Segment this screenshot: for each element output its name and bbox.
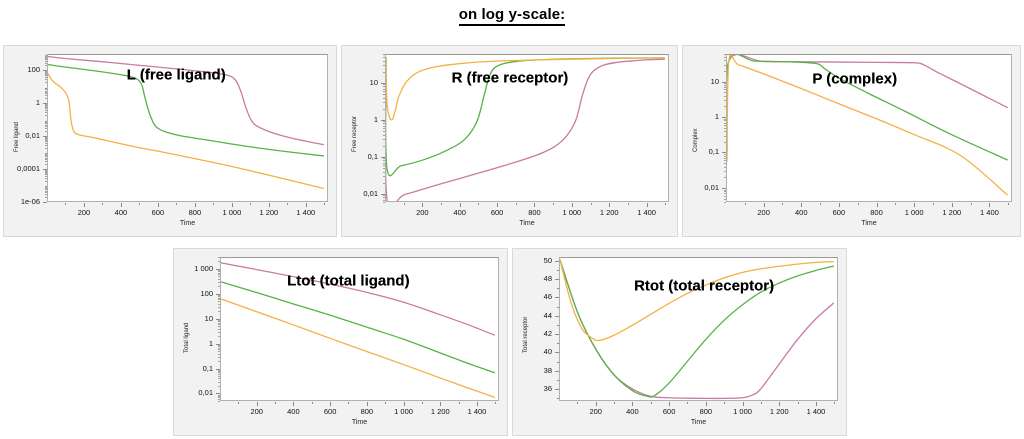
y-minor-tick-mark — [724, 119, 726, 120]
x-minor-tick-mark — [834, 402, 835, 404]
y-minor-tick-mark — [383, 139, 385, 140]
y-minor-tick-mark — [724, 92, 726, 93]
y-minor-tick-mark — [383, 163, 385, 164]
y-minor-tick-mark — [383, 109, 385, 110]
x-tick-mark — [989, 203, 990, 207]
series-line-green — [221, 282, 494, 373]
y-minor-tick-mark — [218, 274, 220, 275]
y-minor-tick-mark — [45, 104, 47, 105]
x-tick-mark — [497, 203, 498, 207]
y-minor-tick-mark — [383, 54, 385, 55]
x-tick-mark — [367, 402, 368, 406]
x-minor-tick-mark — [614, 402, 615, 404]
x-tick-mark — [440, 402, 441, 406]
x-minor-tick-mark — [971, 203, 972, 205]
x-tick-mark — [257, 402, 258, 406]
y-tick-label: 0,01 — [342, 189, 378, 198]
y-tick-label: 100 — [4, 65, 40, 74]
y-minor-tick-mark — [45, 75, 47, 76]
y-minor-tick-mark — [45, 173, 47, 174]
x-axis-title: Time — [47, 220, 328, 227]
y-minor-tick-mark — [45, 107, 47, 108]
x-minor-tick-mark — [798, 402, 799, 404]
y-minor-tick-mark — [218, 304, 220, 305]
y-minor-tick-mark — [724, 136, 726, 137]
y-tick-label: 0,1 — [342, 152, 378, 161]
y-minor-tick-mark — [218, 399, 220, 400]
y-minor-tick-mark — [218, 329, 220, 330]
series-line-pink — [727, 55, 1007, 152]
y-minor-tick-mark — [557, 398, 559, 399]
y-minor-tick-mark — [45, 57, 47, 58]
x-minor-tick-mark — [348, 402, 349, 404]
y-minor-tick-mark — [724, 191, 726, 192]
y-minor-tick-mark — [557, 380, 559, 381]
y-minor-tick-mark — [45, 128, 47, 129]
y-tick-label: 1 — [683, 112, 719, 121]
y-minor-tick-mark — [218, 276, 220, 277]
y-minor-tick-mark — [45, 140, 47, 141]
y-minor-tick-mark — [383, 200, 385, 201]
x-tick-mark — [477, 402, 478, 406]
y-minor-tick-mark — [45, 148, 47, 149]
y-minor-tick-mark — [724, 160, 726, 161]
y-minor-tick-mark — [218, 307, 220, 308]
x-tick-mark — [422, 203, 423, 207]
y-minor-tick-mark — [218, 321, 220, 322]
y-tick-label: 1 — [342, 115, 378, 124]
y-tick-label: 0,01 — [4, 131, 40, 140]
x-minor-tick-mark — [858, 203, 859, 205]
chart-title-Ltot: Ltot (total ligand) — [287, 273, 409, 290]
y-minor-tick-mark — [383, 168, 385, 169]
y-axis-title: Free receptor — [352, 116, 358, 152]
x-tick-label: 1 400 — [455, 407, 499, 416]
y-tick-mark — [555, 297, 559, 298]
y-minor-tick-mark — [724, 177, 726, 178]
y-minor-tick-mark — [45, 63, 47, 64]
y-tick-label: 0,1 — [174, 364, 213, 373]
y-minor-tick-mark — [45, 110, 47, 111]
y-minor-tick-mark — [724, 131, 726, 132]
y-minor-tick-mark — [45, 115, 47, 116]
x-minor-tick-mark — [724, 402, 725, 404]
y-tick-label: 0,01 — [683, 183, 719, 192]
y-minor-tick-mark — [218, 286, 220, 287]
y-minor-tick-mark — [45, 122, 47, 123]
y-minor-tick-mark — [45, 141, 47, 142]
y-minor-tick-mark — [383, 128, 385, 129]
x-minor-tick-mark — [820, 203, 821, 205]
y-minor-tick-mark — [724, 163, 726, 164]
y-minor-tick-mark — [45, 125, 47, 126]
x-minor-tick-mark — [404, 203, 405, 205]
x-minor-tick-mark — [312, 402, 313, 404]
x-minor-tick-mark — [687, 402, 688, 404]
x-minor-tick-mark — [591, 203, 592, 205]
y-minor-tick-mark — [218, 371, 220, 372]
y-minor-tick-mark — [218, 279, 220, 280]
x-minor-tick-mark — [65, 203, 66, 205]
x-tick-label: 1 400 — [967, 208, 1011, 217]
y-minor-tick-mark — [724, 193, 726, 194]
y-minor-tick-mark — [383, 146, 385, 147]
chart-title-P: P (complex) — [812, 71, 897, 88]
y-minor-tick-mark — [218, 326, 220, 327]
y-minor-tick-mark — [383, 172, 385, 173]
y-minor-tick-mark — [383, 65, 385, 66]
y-minor-tick-mark — [218, 324, 220, 325]
x-tick-mark — [816, 402, 817, 406]
y-minor-tick-mark — [724, 167, 726, 168]
y-minor-tick-mark — [383, 158, 385, 159]
y-minor-tick-mark — [45, 59, 47, 60]
y-minor-tick-mark — [218, 301, 220, 302]
y-minor-tick-mark — [383, 86, 385, 87]
y-minor-tick-mark — [45, 158, 47, 159]
x-tick-mark — [609, 203, 610, 207]
y-minor-tick-mark — [557, 288, 559, 289]
y-minor-tick-mark — [218, 296, 220, 297]
x-tick-mark — [877, 203, 878, 207]
x-minor-tick-mark — [250, 203, 251, 205]
y-minor-tick-mark — [218, 401, 220, 402]
y-minor-tick-mark — [383, 72, 385, 73]
y-minor-tick-mark — [724, 190, 726, 191]
y-minor-tick-mark — [724, 87, 726, 88]
y-minor-tick-mark — [383, 202, 385, 203]
y-minor-tick-mark — [45, 89, 47, 90]
x-tick-label: 1 400 — [794, 407, 838, 416]
x-minor-tick-mark — [761, 402, 762, 404]
y-minor-tick-mark — [218, 382, 220, 383]
y-tick-label: 10 — [174, 314, 213, 323]
y-minor-tick-mark — [45, 156, 47, 157]
y-minor-tick-mark — [724, 100, 726, 101]
page-title: on log y-scale: — [0, 6, 1024, 23]
y-minor-tick-mark — [724, 142, 726, 143]
x-tick-mark — [572, 203, 573, 207]
y-minor-tick-mark — [218, 378, 220, 379]
y-minor-tick-mark — [218, 361, 220, 362]
x-tick-mark — [330, 402, 331, 406]
y-minor-tick-mark — [45, 181, 47, 182]
y-minor-tick-mark — [218, 257, 220, 258]
y-minor-tick-mark — [724, 60, 726, 61]
y-minor-tick-mark — [218, 354, 220, 355]
y-minor-tick-mark — [383, 131, 385, 132]
x-tick-mark — [460, 203, 461, 207]
y-tick-label: 0,1 — [683, 147, 719, 156]
y-minor-tick-mark — [45, 197, 47, 198]
x-tick-mark — [158, 203, 159, 207]
y-minor-tick-mark — [218, 357, 220, 358]
y-minor-tick-mark — [45, 174, 47, 175]
plot-free-receptor: 1010,10,012004006008001 0001 2001 400Tim… — [342, 46, 677, 236]
x-minor-tick-mark — [651, 402, 652, 404]
panel-free-ligand: 10010,010,00011e-062004006008001 0001 20… — [3, 45, 337, 237]
panel-free-receptor: 1010,10,012004006008001 0001 2001 400Tim… — [341, 45, 678, 237]
x-tick-mark — [306, 203, 307, 207]
x-minor-tick-mark — [577, 402, 578, 404]
x-tick-mark — [764, 203, 765, 207]
y-tick-label: 1 000 — [174, 264, 213, 273]
x-minor-tick-mark — [495, 402, 496, 404]
y-tick-label: 42 — [513, 329, 552, 338]
y-minor-tick-mark — [383, 57, 385, 58]
y-minor-tick-mark — [45, 188, 47, 189]
x-axis-title: Time — [385, 220, 669, 227]
y-tick-mark — [555, 389, 559, 390]
y-minor-tick-mark — [45, 108, 47, 109]
y-minor-tick-mark — [218, 282, 220, 283]
plot-free-ligand: 10010,010,00011e-062004006008001 0001 20… — [4, 46, 336, 236]
y-minor-tick-mark — [383, 91, 385, 92]
x-axis-title: Time — [726, 220, 1012, 227]
x-tick-mark — [596, 402, 597, 406]
x-tick-mark — [269, 203, 270, 207]
y-minor-tick-mark — [45, 159, 47, 160]
x-tick-mark — [779, 402, 780, 406]
y-minor-tick-mark — [45, 194, 47, 195]
x-tick-mark — [404, 402, 405, 406]
y-tick-mark — [555, 261, 559, 262]
y-minor-tick-mark — [45, 82, 47, 83]
x-minor-tick-mark — [324, 203, 325, 205]
y-minor-tick-mark — [45, 71, 47, 72]
y-minor-tick-mark — [218, 396, 220, 397]
y-minor-tick-mark — [383, 121, 385, 122]
y-minor-tick-mark — [45, 176, 47, 177]
y-axis-title: Free ligand — [14, 122, 20, 152]
series-line-orange — [221, 299, 494, 397]
y-minor-tick-mark — [218, 273, 220, 274]
x-minor-tick-mark — [102, 203, 103, 205]
y-minor-tick-mark — [218, 370, 220, 371]
y-minor-tick-mark — [45, 192, 47, 193]
y-minor-tick-mark — [45, 92, 47, 93]
x-minor-tick-mark — [287, 203, 288, 205]
y-minor-tick-mark — [45, 77, 47, 78]
y-tick-label: 50 — [513, 256, 552, 265]
y-minor-tick-mark — [383, 84, 385, 85]
y-minor-tick-mark — [724, 156, 726, 157]
y-minor-tick-mark — [45, 79, 47, 80]
y-minor-tick-mark — [557, 343, 559, 344]
y-minor-tick-mark — [724, 71, 726, 72]
y-minor-tick-mark — [383, 98, 385, 99]
y-minor-tick-mark — [218, 270, 220, 271]
y-minor-tick-mark — [383, 176, 385, 177]
x-minor-tick-mark — [459, 402, 460, 404]
y-tick-mark — [555, 371, 559, 372]
y-minor-tick-mark — [45, 155, 47, 156]
y-minor-tick-mark — [45, 178, 47, 179]
y-minor-tick-mark — [383, 197, 385, 198]
x-tick-mark — [534, 203, 535, 207]
y-minor-tick-mark — [383, 126, 385, 127]
x-tick-mark — [743, 402, 744, 406]
y-minor-tick-mark — [218, 349, 220, 350]
y-minor-tick-mark — [383, 123, 385, 124]
y-minor-tick-mark — [724, 154, 726, 155]
y-minor-tick-mark — [218, 320, 220, 321]
y-minor-tick-mark — [45, 58, 47, 59]
plot-complex: 1010,10,012004006008001 0001 2001 400Tim… — [683, 46, 1020, 236]
y-tick-label: 0,01 — [174, 388, 213, 397]
y-minor-tick-mark — [218, 323, 220, 324]
x-minor-tick-mark — [628, 203, 629, 205]
y-tick-mark — [43, 202, 47, 203]
y-minor-tick-mark — [45, 121, 47, 122]
y-tick-label: 46 — [513, 292, 552, 301]
y-minor-tick-mark — [724, 96, 726, 97]
y-minor-tick-mark — [218, 271, 220, 272]
x-axis-title: Time — [559, 419, 838, 426]
x-tick-mark — [952, 203, 953, 207]
x-minor-tick-mark — [139, 203, 140, 205]
y-tick-mark — [555, 352, 559, 353]
y-minor-tick-mark — [45, 153, 47, 154]
x-tick-mark — [669, 402, 670, 406]
x-tick-mark — [195, 203, 196, 207]
x-tick-label: 1 400 — [284, 208, 328, 217]
page-title-text: on log y-scale: — [459, 6, 566, 26]
chart-title-Rtot: Rtot (total receptor) — [634, 277, 774, 294]
panel-total-ligand: 1 0001001010,10,012004006008001 0001 200… — [173, 248, 508, 436]
y-tick-label: 48 — [513, 274, 552, 283]
y-tick-label: 40 — [513, 347, 552, 356]
y-minor-tick-mark — [218, 397, 220, 398]
y-minor-tick-mark — [724, 128, 726, 129]
y-minor-tick-mark — [45, 73, 47, 74]
y-minor-tick-mark — [557, 270, 559, 271]
y-tick-label: 10 — [342, 78, 378, 87]
y-minor-tick-mark — [724, 83, 726, 84]
plot-total-receptor: 50484644424038362004006008001 0001 2001 … — [513, 249, 846, 435]
y-minor-tick-mark — [218, 386, 220, 387]
x-tick-label: 1 400 — [625, 208, 669, 217]
y-minor-tick-mark — [383, 94, 385, 95]
y-tick-label: 1e-06 — [4, 197, 40, 206]
x-minor-tick-mark — [782, 203, 783, 205]
y-minor-tick-mark — [45, 123, 47, 124]
y-tick-mark — [555, 334, 559, 335]
y-minor-tick-mark — [218, 298, 220, 299]
y-minor-tick-mark — [218, 332, 220, 333]
y-minor-tick-mark — [724, 54, 726, 55]
y-minor-tick-mark — [218, 351, 220, 352]
x-minor-tick-mark — [213, 203, 214, 205]
y-minor-tick-mark — [45, 145, 47, 146]
y-minor-tick-mark — [45, 143, 47, 144]
y-minor-tick-mark — [45, 61, 47, 62]
y-minor-tick-mark — [45, 186, 47, 187]
plot-total-ligand: 1 0001001010,10,012004006008001 0001 200… — [174, 249, 507, 435]
y-minor-tick-mark — [724, 171, 726, 172]
y-minor-tick-mark — [724, 202, 726, 203]
y-minor-tick-mark — [45, 172, 47, 173]
y-tick-label: 44 — [513, 311, 552, 320]
x-minor-tick-mark — [441, 203, 442, 205]
x-minor-tick-mark — [553, 203, 554, 205]
y-minor-tick-mark — [383, 61, 385, 62]
y-minor-tick-mark — [45, 95, 47, 96]
y-tick-label: 1 — [174, 339, 213, 348]
x-minor-tick-mark — [516, 203, 517, 205]
y-minor-tick-mark — [45, 98, 47, 99]
y-tick-label: 36 — [513, 384, 552, 393]
series-line-orange — [560, 260, 833, 341]
y-minor-tick-mark — [45, 88, 47, 89]
x-tick-mark — [914, 203, 915, 207]
y-axis-title: Complex — [693, 128, 699, 152]
y-minor-tick-mark — [724, 57, 726, 58]
y-minor-tick-mark — [45, 164, 47, 165]
x-minor-tick-mark — [933, 203, 934, 205]
y-minor-tick-mark — [45, 137, 47, 138]
x-minor-tick-mark — [478, 203, 479, 205]
y-minor-tick-mark — [218, 372, 220, 373]
x-minor-tick-mark — [745, 203, 746, 205]
y-tick-label: 10 — [683, 77, 719, 86]
y-minor-tick-mark — [724, 85, 726, 86]
y-minor-tick-mark — [724, 120, 726, 121]
x-minor-tick-mark — [275, 402, 276, 404]
y-minor-tick-mark — [383, 135, 385, 136]
y-minor-tick-mark — [383, 195, 385, 196]
y-tick-mark — [555, 316, 559, 317]
y-minor-tick-mark — [383, 160, 385, 161]
y-tick-label: 0,0001 — [4, 164, 40, 173]
y-minor-tick-mark — [218, 348, 220, 349]
x-tick-mark — [839, 203, 840, 207]
y-minor-tick-mark — [45, 161, 47, 162]
y-minor-tick-mark — [218, 336, 220, 337]
y-minor-tick-mark — [724, 106, 726, 107]
y-minor-tick-mark — [218, 261, 220, 262]
y-minor-tick-mark — [218, 345, 220, 346]
x-tick-mark — [84, 203, 85, 207]
y-tick-label: 1 — [4, 98, 40, 107]
y-minor-tick-mark — [724, 158, 726, 159]
y-minor-tick-mark — [218, 299, 220, 300]
series-line-orange — [48, 74, 323, 189]
y-minor-tick-mark — [45, 74, 47, 75]
x-tick-mark — [121, 203, 122, 207]
x-tick-mark — [706, 402, 707, 406]
y-minor-tick-mark — [45, 139, 47, 140]
y-minor-tick-mark — [724, 196, 726, 197]
y-minor-tick-mark — [724, 125, 726, 126]
y-minor-tick-mark — [218, 295, 220, 296]
x-tick-mark — [647, 203, 648, 207]
y-minor-tick-mark — [557, 307, 559, 308]
x-tick-mark — [632, 402, 633, 406]
y-minor-tick-mark — [383, 89, 385, 90]
y-minor-tick-mark — [45, 65, 47, 66]
y-minor-tick-mark — [218, 311, 220, 312]
x-minor-tick-mark — [895, 203, 896, 205]
y-minor-tick-mark — [45, 91, 47, 92]
y-minor-tick-mark — [724, 89, 726, 90]
y-minor-tick-mark — [557, 325, 559, 326]
y-minor-tick-mark — [383, 183, 385, 184]
y-minor-tick-mark — [45, 131, 47, 132]
x-minor-tick-mark — [176, 203, 177, 205]
y-minor-tick-mark — [45, 93, 47, 94]
x-minor-tick-mark — [238, 402, 239, 404]
